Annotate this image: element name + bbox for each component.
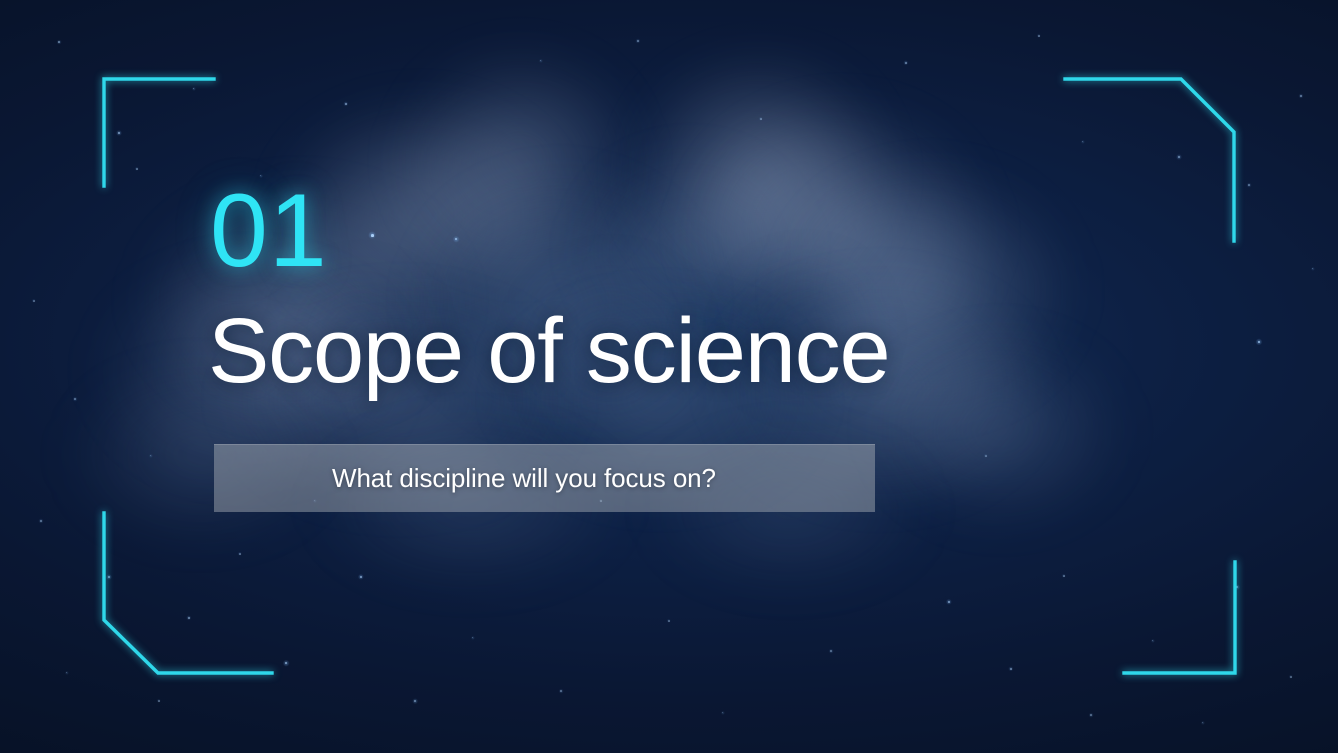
slide-content: 01 Scope of science What discipline will…	[0, 0, 1338, 753]
presentation-slide: 01 Scope of science What discipline will…	[0, 0, 1338, 753]
subtitle-band: What discipline will you focus on?	[214, 444, 875, 512]
page-title: Scope of science	[208, 305, 889, 397]
section-number: 01	[210, 179, 328, 283]
subtitle-text: What discipline will you focus on?	[332, 463, 716, 494]
